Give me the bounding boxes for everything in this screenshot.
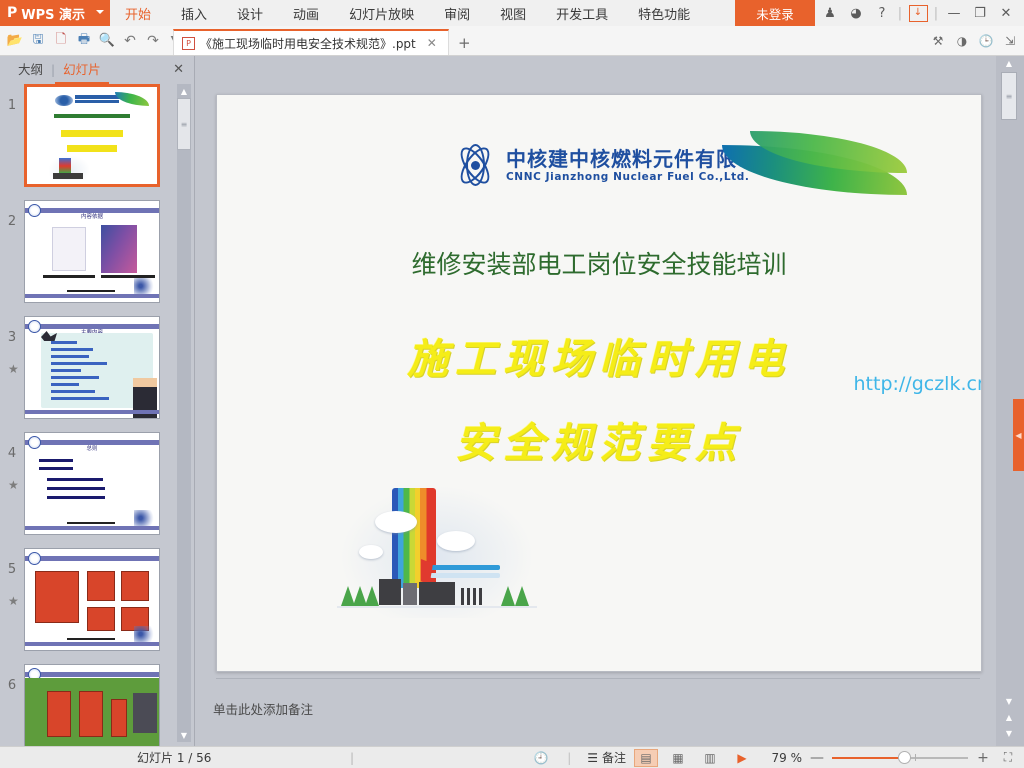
cloud-icon (359, 545, 383, 559)
print-icon[interactable]: 🖶 (73, 29, 95, 53)
list-item[interactable]: 2 内容依据 (0, 200, 178, 316)
scrollbar-thumb[interactable]: ≡ (1001, 72, 1017, 120)
workspace: 大纲 | 幻灯片 ✕ 1 (0, 56, 1024, 746)
menu-item-review[interactable]: 审阅 (429, 0, 485, 26)
shirt-icon[interactable]: ♟ (818, 1, 842, 25)
cloud-icon (437, 531, 475, 551)
thumb-logo-subtext (75, 100, 119, 103)
thumb-decor (134, 510, 156, 526)
thumb-cabinet-4 (87, 607, 115, 631)
scroll-down-icon[interactable]: ▼ (177, 728, 191, 742)
slide-subtitle: 维修安装部电工岗位安全技能培训 (217, 245, 981, 281)
thumbnail-slide-6[interactable] (24, 664, 160, 746)
thumb-cabinet-3 (111, 699, 127, 737)
thumb-logo-icon (55, 95, 73, 106)
animation-star-icon: ★ (8, 362, 19, 376)
building-block (379, 579, 401, 605)
thumbnail-number: 5 (0, 548, 24, 577)
slide-sorter-view-button[interactable]: ▦ (666, 749, 690, 767)
building-stripe (430, 573, 500, 578)
thumb-footer-bar (25, 410, 159, 414)
thumb-footer-text (67, 290, 115, 293)
window-controls: ♟ ◕ ? | ↓ | — ❐ ✕ (818, 0, 1024, 26)
undo-icon[interactable]: ↶ (119, 29, 141, 53)
menu-bar: P WPS 演示 开始 插入 设计 动画 幻灯片放映 审阅 视图 开发工具 特色… (0, 0, 1024, 26)
login-status-button[interactable]: 未登录 (735, 0, 815, 26)
thumb-footer-text (67, 638, 115, 641)
restore-icon[interactable]: ❐ (968, 1, 992, 25)
building-stripe (430, 565, 500, 570)
thumb-title-line2 (27, 145, 157, 152)
menu-item-start[interactable]: 开始 (110, 0, 166, 26)
close-icon[interactable]: ✕ (994, 1, 1018, 25)
previous-slide-icon[interactable]: ▲ (1001, 710, 1017, 725)
menu-item-developer-tools[interactable]: 开发工具 (541, 0, 623, 26)
thumb-decor (134, 626, 156, 642)
thumbnail-slide-3[interactable]: 主要内容 (24, 316, 160, 419)
slideshow-button[interactable]: ▶ (730, 749, 754, 767)
list-item[interactable]: 3 ★ 主要内容 (0, 316, 178, 432)
building-block (419, 582, 455, 605)
thumb-caption-a (43, 275, 95, 278)
redo-icon[interactable]: ↷ (142, 29, 164, 53)
list-item[interactable]: 4 ★ 总则 (0, 432, 178, 548)
thumb-document-a (52, 227, 86, 271)
slide-vertical-scrollbar[interactable]: ▲ ≡ ▼ ▲ ▼ ◀ (996, 56, 1024, 746)
thumbnail-number: 2 (0, 200, 24, 229)
help-icon[interactable]: ? (870, 1, 894, 25)
save-icon[interactable]: 🖫 (27, 29, 49, 53)
export-pdf-icon[interactable]: 🗋 (50, 29, 72, 53)
slide-counter: 幻灯片 1 / 56 (137, 749, 211, 766)
status-bar: 幻灯片 1 / 56 | 🕘 | ☰ 备注 ▤ ▦ ▥ ▶ 79 % — + ⛶ (0, 746, 1024, 768)
leaf-graphic (722, 131, 907, 199)
notes-icon: ☰ (587, 751, 598, 765)
history-icon[interactable]: 🕒 (978, 33, 994, 49)
panel-header: 大纲 | 幻灯片 ✕ (0, 56, 194, 84)
scroll-up-icon[interactable]: ▲ (1001, 56, 1017, 71)
notes-resize-handle[interactable] (580, 674, 612, 679)
menu-item-insert[interactable]: 插入 (166, 0, 222, 26)
next-slide-icon[interactable]: ▼ (1001, 726, 1017, 741)
thumbnail-scrollbar[interactable]: ▲ ≡ ▼ (177, 84, 191, 742)
ink-icon[interactable]: ◑ (954, 33, 970, 49)
minimize-icon[interactable]: — (942, 1, 966, 25)
thumb-illustration (49, 156, 89, 180)
thumb-decor (134, 278, 156, 294)
new-tab-button[interactable]: + (458, 34, 471, 52)
document-tab-label: 《施工现场临时用电安全技术规范》.ppt (200, 35, 416, 52)
scrollbar-thumb[interactable]: ≡ (177, 98, 191, 150)
thumb-cabinet-3 (121, 571, 149, 601)
tree-icon (501, 586, 515, 606)
menu-item-animation[interactable]: 动画 (278, 0, 334, 26)
thumb-document-b (101, 225, 137, 273)
thumbnail-number: 1 (0, 84, 24, 113)
slide-title-line2: 安全规范要点 (217, 409, 981, 469)
thumbnail-slide-5[interactable] (24, 548, 160, 651)
thumb-header-bar (25, 556, 159, 561)
scroll-up-icon[interactable]: ▲ (177, 84, 191, 98)
close-icon[interactable]: ✕ (427, 36, 437, 50)
menu-item-list: 开始 插入 设计 动画 幻灯片放映 审阅 视图 开发工具 特色功能 (110, 0, 705, 26)
download-icon[interactable]: ↓ (906, 1, 930, 25)
wps-brand-button[interactable]: P WPS 演示 (0, 0, 110, 26)
notes-label: 备注 (602, 749, 626, 766)
zoom-slider[interactable] (832, 751, 968, 765)
notes-toggle-button[interactable]: ☰ 备注 (587, 749, 626, 766)
notes-placeholder: 单击此处添加备注 (213, 699, 313, 718)
tree-icon (365, 586, 379, 606)
thumbnail-number: 6 (0, 664, 24, 693)
history-icon[interactable]: 🕘 (531, 749, 551, 767)
thumbnail-number: 4 (0, 432, 24, 461)
thumb-logo-icon (28, 552, 41, 565)
thumb-header-bar (25, 672, 159, 677)
tools-icon[interactable]: ⚒ (930, 33, 946, 49)
animation-star-icon: ★ (8, 594, 19, 608)
animation-star-icon: ★ (8, 478, 19, 492)
status-bar-right: 🕘 | ☰ 备注 ▤ ▦ ▥ ▶ 79 % — + ⛶ (531, 749, 1018, 767)
thumb-cabinet-2 (87, 571, 115, 601)
document-tab[interactable]: P 《施工现场临时用电安全技术规范》.ppt ✕ (173, 29, 449, 55)
divider: | (932, 1, 940, 25)
divider: | (350, 751, 354, 765)
wps-logo-icon: P (7, 6, 17, 20)
thumb-cabinet-1 (35, 571, 79, 623)
reading-view-button[interactable]: ▥ (698, 749, 722, 767)
scroll-up-button[interactable]: ▲ (1001, 56, 1017, 71)
zoom-in-button[interactable]: + (976, 750, 990, 766)
thumbnail-slide-1[interactable] (24, 84, 160, 187)
thumb-title: 内容依据 (25, 212, 159, 220)
list-item[interactable]: 1 (0, 84, 178, 200)
thumb-subtitle (27, 114, 157, 118)
building-block (403, 583, 417, 605)
quick-access-row: 📂 🖫 🗋 🖶 🔍 ↶ ↷ ▼ P 《施工现场临时用电安全技术规范》.ppt ✕… (0, 26, 1024, 56)
clock-icon[interactable]: ◕ (844, 1, 868, 25)
cloud-icon (375, 511, 417, 533)
slide-thumbnail-panel: 大纲 | 幻灯片 ✕ 1 (0, 56, 195, 746)
menu-item-view[interactable]: 视图 (485, 0, 541, 26)
quick-access-right-icons: ⚒ ◑ 🕒 ⇲ (930, 28, 1018, 54)
menu-item-design[interactable]: 设计 (222, 0, 278, 26)
scroll-down-icon[interactable]: ▼ (1001, 694, 1017, 709)
thumb-cabinet-1 (47, 691, 71, 737)
thumbnail-slide-4[interactable]: 总则 (24, 432, 160, 535)
close-icon[interactable]: ✕ (173, 62, 184, 77)
thumb-footer-text (67, 522, 115, 525)
thumb-leaf-graphic (115, 92, 149, 106)
normal-view-button[interactable]: ▤ (634, 749, 658, 767)
thumb-footer-bar (25, 294, 159, 298)
divider: | (896, 1, 904, 25)
quick-access-toolbar: 📂 🖫 🗋 🖶 🔍 ↶ ↷ ▼ (0, 26, 187, 55)
divider: | (559, 749, 579, 767)
thumb-title: 总则 (25, 444, 159, 452)
wps-brand-label: WPS 演示 (21, 4, 85, 23)
slide-illustration (337, 483, 537, 618)
zoom-level-label: 79 % (762, 751, 802, 765)
tab-outline[interactable]: 大纲 (10, 57, 51, 84)
presentation-file-icon: P (182, 37, 195, 50)
thumb-title-line1 (27, 130, 157, 137)
zoom-slider-handle[interactable] (898, 751, 911, 764)
menu-item-slideshow[interactable]: 幻灯片放映 (334, 0, 429, 26)
list-item[interactable]: 6 (0, 664, 178, 746)
menu-item-special-features[interactable]: 特色功能 (623, 0, 705, 26)
thumbnail-number: 3 (0, 316, 24, 345)
slide-canvas[interactable]: 中核建中核燃料元件有限公司 CNNC Jianzhong Nuclear Fue… (216, 94, 982, 672)
fit-to-window-icon[interactable]: ⛶ (998, 749, 1018, 767)
thumb-cabinet-2 (79, 691, 103, 737)
thumb-footer-bar (25, 526, 159, 530)
thumbnail-slide-2[interactable]: 内容依据 (24, 200, 160, 303)
list-item[interactable]: 5 ★ (0, 548, 178, 664)
thumb-machine (133, 693, 157, 733)
open-icon[interactable]: 📂 (4, 29, 26, 53)
wps-presentation-window: P WPS 演示 开始 插入 设计 动画 幻灯片放映 审阅 视图 开发工具 特色… (0, 0, 1024, 768)
share-icon[interactable]: ⇲ (1002, 33, 1018, 49)
atom-icon (452, 142, 498, 188)
collapse-panel-button[interactable]: ◀ (1013, 399, 1024, 471)
bar-group (461, 588, 482, 605)
scroll-bottom-controls[interactable]: ▼ ▲ ▼ (1001, 694, 1017, 742)
thumb-footer-bar (25, 642, 159, 646)
print-preview-icon[interactable]: 🔍 (96, 29, 118, 53)
tab-slides[interactable]: 幻灯片 (55, 57, 109, 84)
zoom-out-button[interactable]: — (810, 750, 824, 766)
notes-pane[interactable]: 单击此处添加备注 (208, 687, 986, 743)
thumbnail-list[interactable]: 1 (0, 84, 178, 746)
watermark-url: http://gczlk.cn (854, 373, 983, 395)
slide-editing-stage: 中核建中核燃料元件有限公司 CNNC Jianzhong Nuclear Fue… (196, 56, 996, 746)
tree-icon (515, 586, 529, 606)
chevron-down-icon[interactable] (96, 10, 104, 14)
